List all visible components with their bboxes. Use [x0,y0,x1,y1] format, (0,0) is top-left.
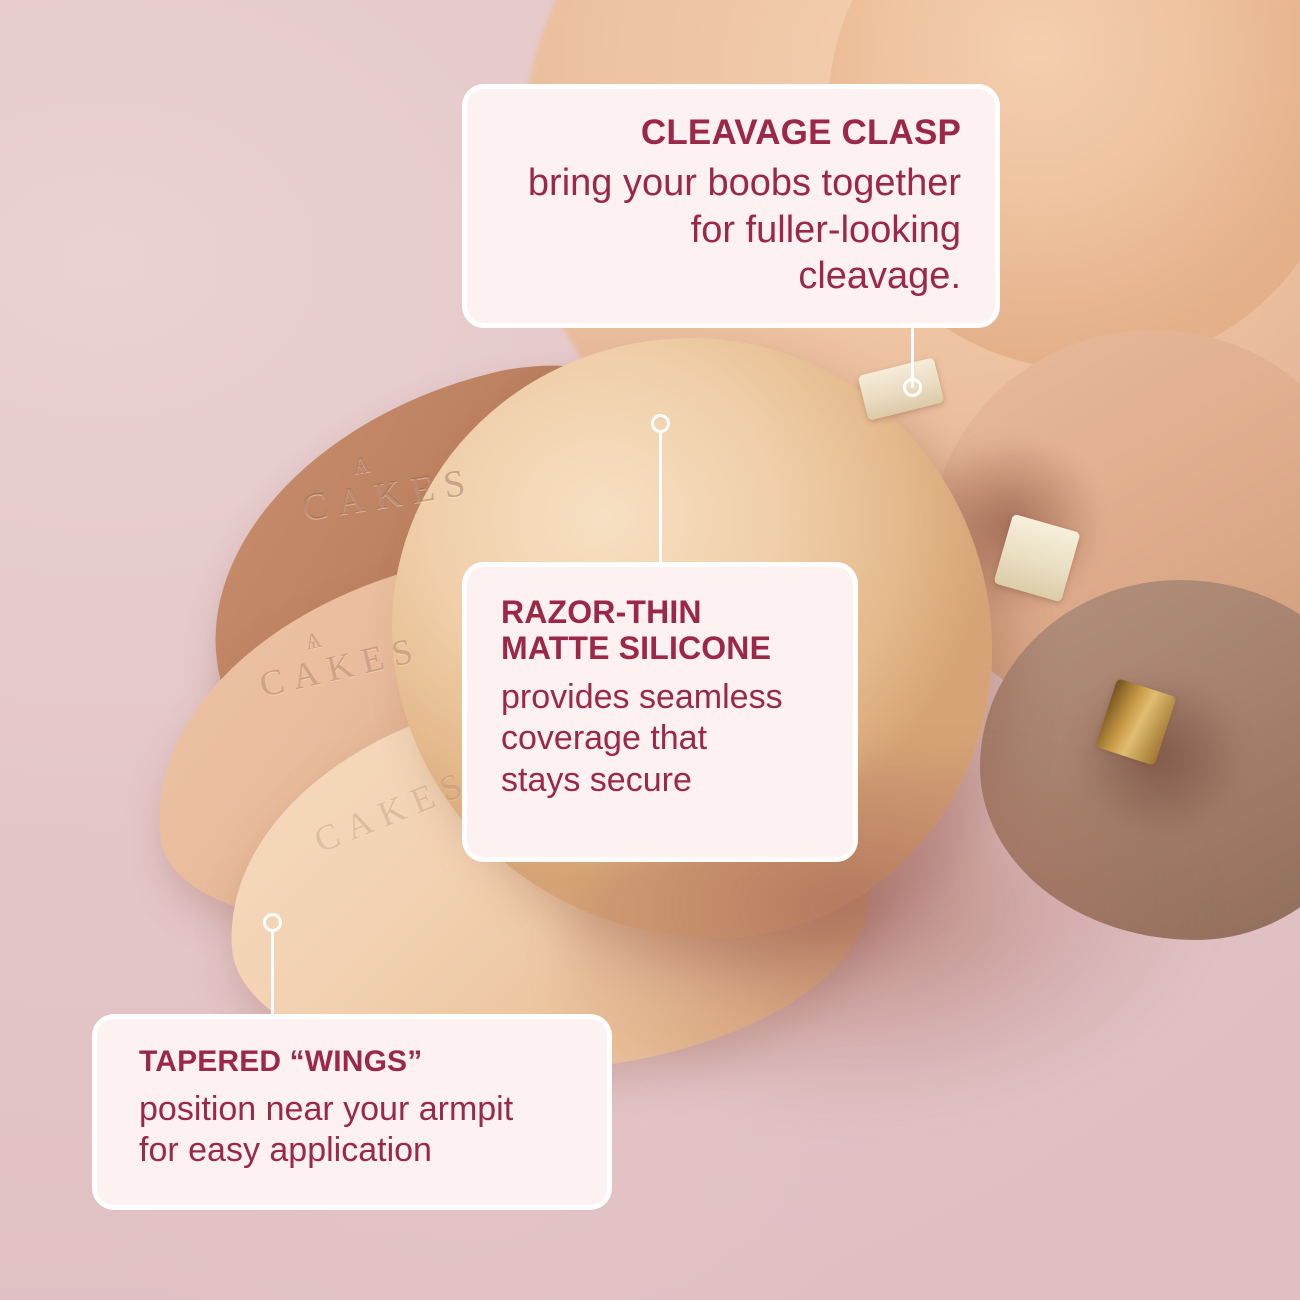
callout-card-razor-thin-matte-silicone: RAZOR-THIN MATTE SILICONE provides seaml… [462,562,858,862]
callout-heading-cleavage-clasp: CLEAVAGE CLASP [497,113,961,152]
callout-heading-line: RAZOR-THIN [501,595,853,631]
callout-body-cleavage-clasp: bring your boobs together for fuller-loo… [497,160,961,299]
callout-body-razor-thin: provides seamless coverage that stays se… [501,677,853,801]
leader-line-silicone [659,430,662,564]
callout-body-line: position near your armpit [139,1089,607,1130]
callout-heading-razor-thin: RAZOR-THIN MATTE SILICONE [501,595,853,667]
callout-body-line: coverage that [501,718,853,759]
callout-body-line: stays secure [501,760,853,801]
leader-line-wings [271,930,274,1016]
callout-body-line: for fuller-looking [497,207,961,253]
leader-dot-silicone [651,414,670,433]
callout-body-tapered-wings: position near your armpit for easy appli… [139,1089,607,1172]
leader-dot-wings [263,913,282,932]
leader-dot-cleavage-clasp [903,378,922,397]
callout-body-line: for easy application [139,1130,607,1171]
callout-heading-line: MATTE SILICONE [501,631,853,667]
callout-heading-tapered-wings: TAPERED “WINGS” [139,1045,607,1079]
callout-card-cleavage-clasp: CLEAVAGE CLASP bring your boobs together… [462,84,1000,328]
product-feature-infographic: Ѧ CAKES Ѧ CAKES CAKES CLEAVAGE CLASP bri… [0,0,1300,1300]
callout-body-line: cleavage. [497,253,961,299]
callout-card-tapered-wings: TAPERED “WINGS” position near your armpi… [92,1014,612,1210]
callout-body-line: provides seamless [501,677,853,718]
callout-body-line: bring your boobs together [497,160,961,206]
